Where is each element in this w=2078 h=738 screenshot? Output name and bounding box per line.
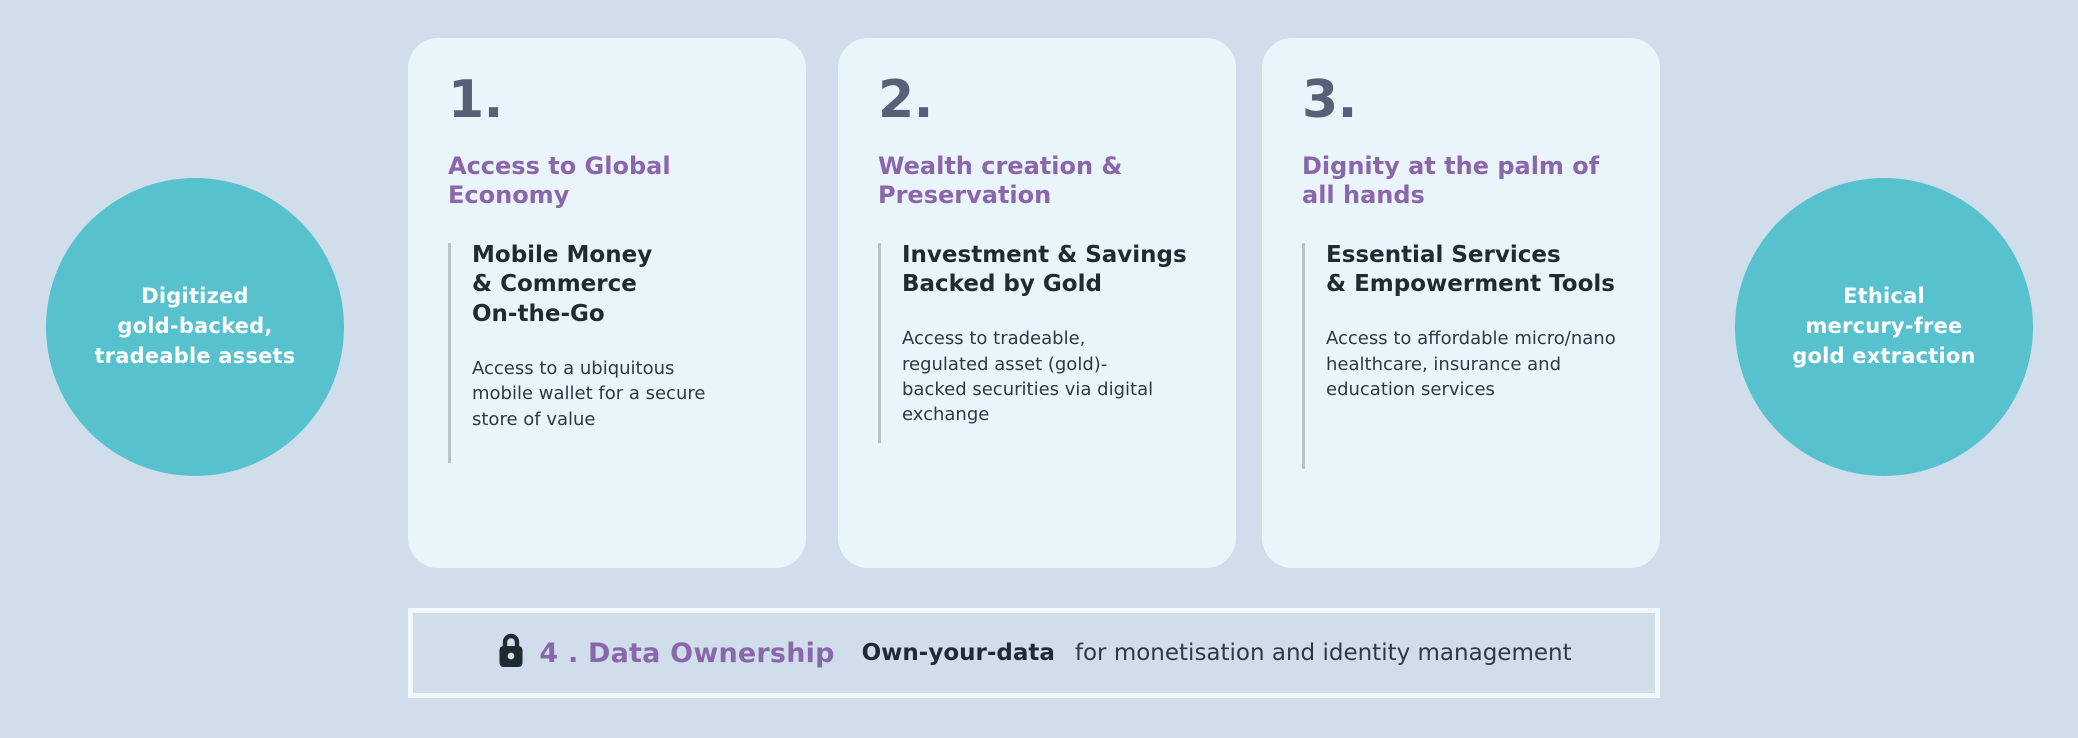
data-ownership-label: 4 . Data Ownership xyxy=(539,638,834,669)
card-3-detail: Essential Services & Empowerment Tools A… xyxy=(1302,241,1620,402)
right-value-circle: Ethical mercury-free gold extraction xyxy=(1735,178,2033,476)
card-2-detail: Investment & Savings Backed by Gold Acce… xyxy=(878,241,1196,428)
data-ownership-content: 4 . Data Ownership Own-your-data for mon… xyxy=(496,632,1571,674)
data-ownership-bar[interactable]: 4 . Data Ownership Own-your-data for mon… xyxy=(408,608,1660,698)
left-value-circle: Digitized gold-backed, tradeable assets xyxy=(46,178,344,476)
card-2-detail-title: Investment & Savings Backed by Gold xyxy=(902,241,1196,301)
lock-icon xyxy=(496,632,526,674)
card-1-detail: Mobile Money & Commerce On-the-Go Access… xyxy=(448,241,766,432)
card-1-heading: Access to Global Economy xyxy=(448,152,766,211)
card-1-detail-title: Mobile Money & Commerce On-the-Go xyxy=(472,241,766,331)
pillar-card-1[interactable]: 1. Access to Global Economy Mobile Money… xyxy=(408,38,806,568)
card-1-number: 1. xyxy=(448,74,766,126)
card-1-detail-body: Access to a ubiquitous mobile wallet for… xyxy=(472,356,766,432)
left-circle-label: Digitized gold-backed, tradeable assets xyxy=(95,282,296,371)
data-ownership-rest-text: for monetisation and identity management xyxy=(1075,640,1572,666)
card-3-heading: Dignity at the palm of all hands xyxy=(1302,152,1620,211)
right-circle-label: Ethical mercury-free gold extraction xyxy=(1792,282,1975,371)
card-3-detail-body: Access to affordable micro/nano healthca… xyxy=(1326,326,1620,402)
pillar-card-3[interactable]: 3. Dignity at the palm of all hands Esse… xyxy=(1262,38,1660,568)
card-3-number: 3. xyxy=(1302,74,1620,126)
card-3-detail-title: Essential Services & Empowerment Tools xyxy=(1326,241,1620,301)
data-ownership-strong-text: Own-your-data xyxy=(862,640,1055,666)
card-2-number: 2. xyxy=(878,74,1196,126)
pillar-card-2[interactable]: 2. Wealth creation & Preservation Invest… xyxy=(838,38,1236,568)
card-2-detail-body: Access to tradeable, regulated asset (go… xyxy=(902,326,1196,427)
card-2-heading: Wealth creation & Preservation xyxy=(878,152,1196,211)
